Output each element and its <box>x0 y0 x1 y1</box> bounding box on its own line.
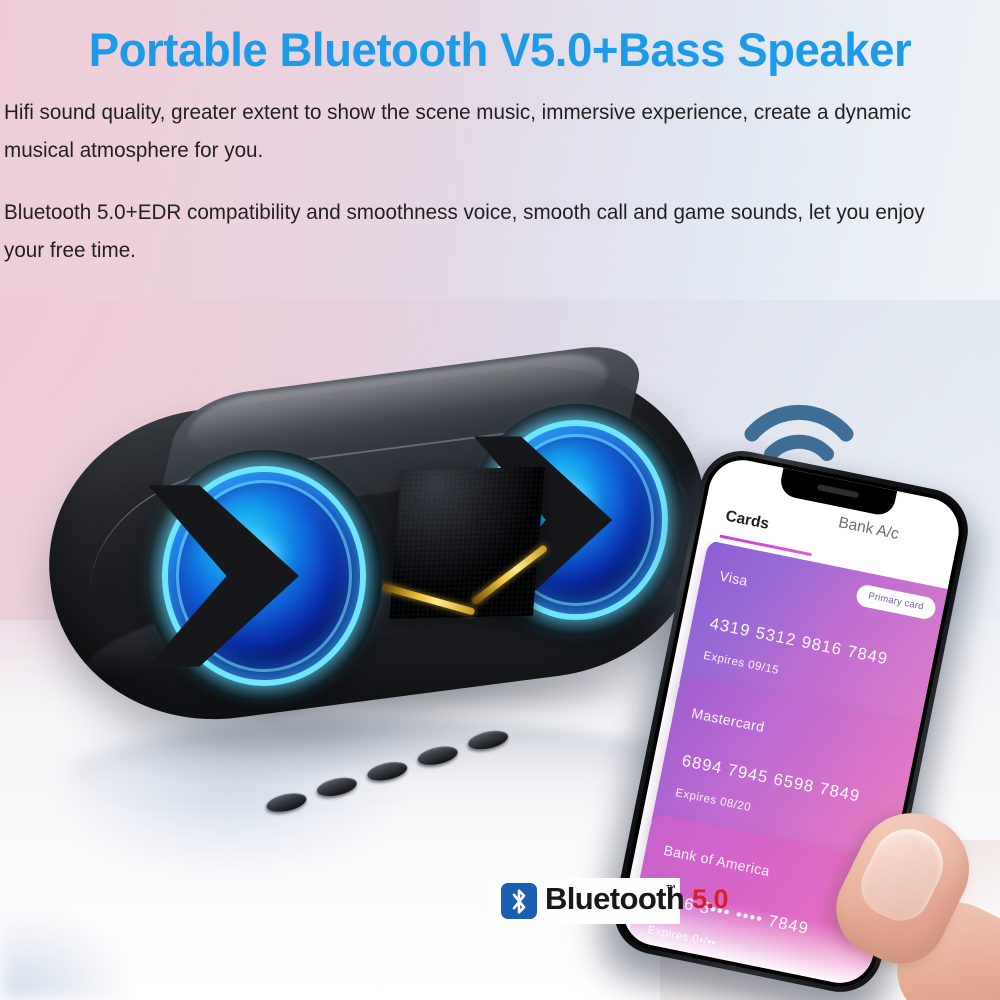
bluetooth-badge: Bluetooth ™ 5.0 <box>487 878 737 924</box>
card-expiry: Expires 08/20 <box>674 787 752 814</box>
card-brand-label: Mastercard <box>690 705 766 735</box>
speaker-grille-panel <box>378 462 578 652</box>
speaker-control-button-2[interactable] <box>315 775 359 798</box>
speaker-control-button-3[interactable] <box>365 760 409 783</box>
primary-card-badge: Primary card <box>854 583 937 621</box>
description-paragraph-1: Hifi sound quality, greater extent to sh… <box>4 93 950 169</box>
card-brand-label: Visa <box>718 568 749 589</box>
card-brand-label: Bank of America <box>662 842 771 879</box>
background-corner-blue <box>0 900 230 1000</box>
trademark-symbol: ™ <box>666 884 676 895</box>
bluetooth-rune-icon <box>501 883 537 919</box>
speaker-driver-left <box>146 450 382 702</box>
description-paragraph-2: Bluetooth 5.0+EDR compatibility and smoo… <box>4 193 950 269</box>
page-title: Portable Bluetooth V5.0+Bass Speaker <box>15 22 985 78</box>
card-expiry: Expires 09/15 <box>702 650 780 677</box>
bluetooth-version: 5.0 <box>692 884 728 915</box>
earpiece-speaker-icon <box>817 484 859 498</box>
tab-cards[interactable]: Cards <box>724 508 771 534</box>
pointing-finger <box>848 812 1000 1000</box>
tab-bank-account[interactable]: Bank A/c <box>837 514 901 544</box>
speaker-control-button-5[interactable] <box>466 729 510 752</box>
speaker-control-button-4[interactable] <box>416 744 460 767</box>
bluetooth-wordmark: Bluetooth <box>545 881 684 917</box>
product-marketing-image: Portable Bluetooth V5.0+Bass Speaker Hif… <box>0 0 1000 1000</box>
